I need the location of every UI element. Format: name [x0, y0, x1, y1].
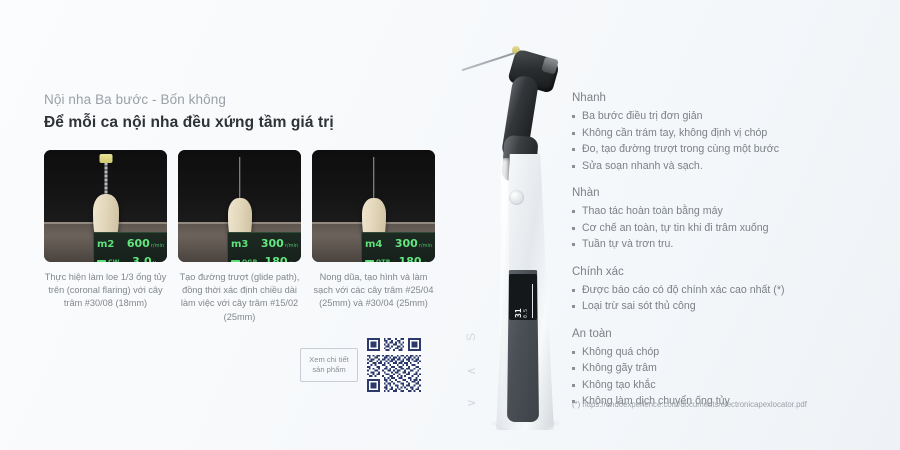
benefit-group: Chính xác Được báo cáo có độ chính xác c…: [572, 266, 892, 315]
kicker-text: Nội nha Ba bước - Bốn không: [44, 92, 434, 107]
benefit-group: Nhàn Thao tác hoàn toàn bằng máy Cơ chế …: [572, 187, 892, 253]
step-caption: Tạo đường trượt (glide path), đồng thời …: [178, 271, 301, 324]
qr-label: Xem chi tiết sản phẩm: [300, 348, 358, 382]
benefit-item: Được báo cáo có độ chính xác cao nhất (*…: [572, 282, 892, 299]
benefit-item: Sửa soạn nhanh và sạch.: [572, 158, 892, 175]
readout-tag: OTR: [376, 256, 391, 262]
benefit-item: Không gãy trâm: [572, 360, 892, 377]
benefits-list: Nhanh Ba bước điều trị đơn giản Không cầ…: [572, 92, 892, 423]
readout-torque-unit: Ncm: [153, 261, 164, 262]
benefit-item: Loại trừ sai sót thủ công: [572, 298, 892, 315]
readout-tag: OGP: [242, 256, 257, 262]
qr-code-icon[interactable]: [367, 338, 421, 392]
readout-torque-unit: deg: [423, 261, 432, 262]
step-card: m3 300r/min OGP 180deg Tạo đường trượt (…: [178, 150, 301, 324]
step-card: m2 600r/min CW 3.0Ncm Thực hiện làm loe …: [44, 150, 167, 324]
readout-speed-unit: r/min: [151, 243, 164, 249]
oled-secondary-value: 0.5: [523, 274, 530, 318]
step-card-list: m2 600r/min CW 3.0Ncm Thực hiện làm loe …: [44, 150, 436, 324]
benefit-item: Tuần tự và trơn tru.: [572, 236, 892, 253]
step-caption: Nong dũa, tạo hình và làm sạch với các c…: [312, 271, 435, 311]
endo-file-icon: [373, 157, 375, 202]
up-button[interactable]: ∧: [464, 355, 478, 387]
benefit-group: An toàn Không quá chóp Không gãy trâm Kh…: [572, 328, 892, 410]
readout-mode: m2: [97, 238, 114, 251]
benefit-group-title: Nhàn: [572, 187, 892, 199]
readout-tag: CW: [108, 256, 120, 262]
body-highlight: [499, 158, 509, 420]
step-photo: m3 300r/min OGP 180deg: [178, 150, 301, 262]
step-photo: m2 600r/min CW 3.0Ncm: [44, 150, 167, 262]
battery-icon: [97, 260, 106, 262]
benefit-item: Không quá chóp: [572, 344, 892, 361]
readout-speed-unit: r/min: [285, 243, 298, 249]
readout-torque-unit: deg: [289, 261, 298, 262]
qr-block[interactable]: Xem chi tiết sản phẩm: [300, 338, 421, 392]
battery-icon: [365, 260, 374, 262]
oled-progress-bar: [532, 284, 533, 318]
benefit-item: Đo, tạo đường trượt trong cùng một bước: [572, 141, 892, 158]
step-caption: Thực hiện làm loe 1/3 ống tủy trên (coro…: [44, 271, 167, 311]
benefit-group-title: Chính xác: [572, 266, 892, 278]
poster-canvas: Nội nha Ba bước - Bốn không Để mỗi ca nộ…: [0, 0, 900, 450]
power-button[interactable]: [509, 190, 524, 205]
readout-speed-unit: r/min: [419, 243, 432, 249]
benefit-group-title: An toàn: [572, 328, 892, 340]
readout-torque: 3.0: [132, 255, 152, 262]
oled-primary-value: 31: [514, 274, 523, 318]
headline-block: Nội nha Ba bước - Bốn không Để mỗi ca nộ…: [44, 92, 434, 132]
footnote: (*) https://endoexperience.com/documents…: [572, 400, 807, 409]
benefit-item: Cơ chế an toàn, tự tin khi đi trâm xuống: [572, 220, 892, 237]
device-readout: m4 300r/min OTR 180deg: [361, 232, 435, 262]
benefit-group-title: Nhanh: [572, 92, 892, 104]
device-readout: m2 600r/min CW 3.0Ncm: [93, 232, 167, 262]
readout-speed: 300: [261, 237, 284, 250]
benefit-item: Ba bước điều trị đơn giản: [572, 108, 892, 125]
endo-file-icon: [104, 159, 107, 197]
step-photo: m4 300r/min OTR 180deg: [312, 150, 435, 262]
readout-speed: 600: [127, 237, 150, 250]
down-button[interactable]: ∨: [464, 387, 478, 419]
device-oled-screen: 31 0.5: [509, 274, 537, 320]
step-card: m4 300r/min OTR 180deg Nong dũa, tạo hìn…: [312, 150, 435, 324]
readout-torque: 180: [399, 255, 422, 262]
readout-mode: m4: [365, 238, 382, 251]
benefit-item: Không tạo khắc: [572, 377, 892, 394]
readout-mode: m3: [231, 238, 248, 251]
select-button[interactable]: S: [464, 321, 478, 353]
benefit-item: Thao tác hoàn toàn bằng máy: [572, 203, 892, 220]
endo-file-icon: [239, 157, 241, 202]
file-handle-icon: [99, 154, 112, 163]
readout-torque: 180: [265, 255, 288, 262]
benefit-group: Nhanh Ba bước điều trị đơn giản Không cầ…: [572, 92, 892, 174]
device-readout: m3 300r/min OGP 180deg: [227, 232, 301, 262]
battery-icon: [231, 260, 240, 262]
page-title: Để mỗi ca nội nha đều xứng tầm giá trị: [44, 114, 434, 132]
readout-speed: 300: [395, 237, 418, 250]
benefit-item: Không cần trám tay, không định vị chóp: [572, 125, 892, 142]
